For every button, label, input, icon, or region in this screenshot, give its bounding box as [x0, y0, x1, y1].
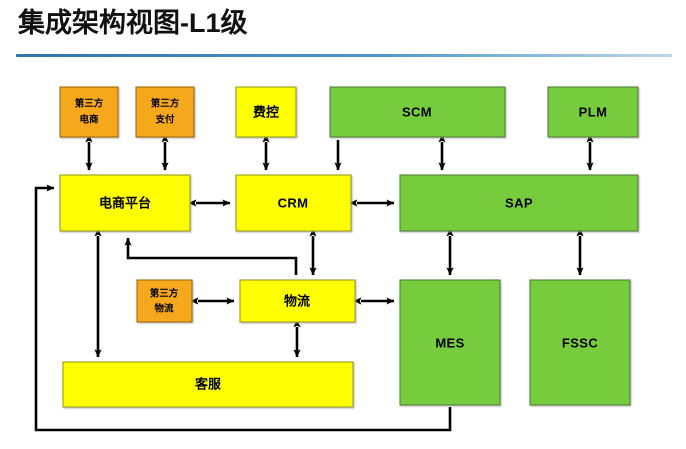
node-layer: 第三方 电商 第三方 支付 费控 SCM	[60, 87, 638, 407]
diagram-svg: 第三方 电商 第三方 支付 费控 SCM	[0, 62, 686, 449]
node-logistics[interactable]: 物流	[240, 280, 355, 322]
node-thirdparty-pay[interactable]: 第三方 支付	[136, 87, 194, 137]
node-customer-service[interactable]: 客服	[63, 362, 353, 407]
node-expense-control[interactable]: 费控	[236, 87, 296, 137]
title-block: 集成架构视图-L1级	[0, 0, 686, 62]
architecture-diagram: 第三方 电商 第三方 支付 费控 SCM	[0, 62, 686, 449]
node-plm[interactable]: PLM	[548, 87, 638, 137]
page-title: 集成架构视图-L1级	[18, 5, 248, 41]
connector-logistics-to-ecom-platform	[128, 238, 296, 275]
node-sap[interactable]: SAP	[400, 175, 638, 231]
slide-root: 集成架构视图-L1级	[0, 0, 686, 449]
node-thirdparty-ecom[interactable]: 第三方 电商	[60, 87, 118, 137]
node-scm[interactable]: SCM	[330, 87, 505, 137]
node-crm[interactable]: CRM	[236, 175, 351, 231]
title-underline-rule	[16, 54, 672, 57]
node-thirdparty-logi[interactable]: 第三方 物流	[137, 280, 192, 322]
node-fssc[interactable]: FSSC	[530, 280, 630, 405]
node-mes[interactable]: MES	[400, 280, 500, 405]
node-ecom-platform[interactable]: 电商平台	[60, 175, 190, 231]
